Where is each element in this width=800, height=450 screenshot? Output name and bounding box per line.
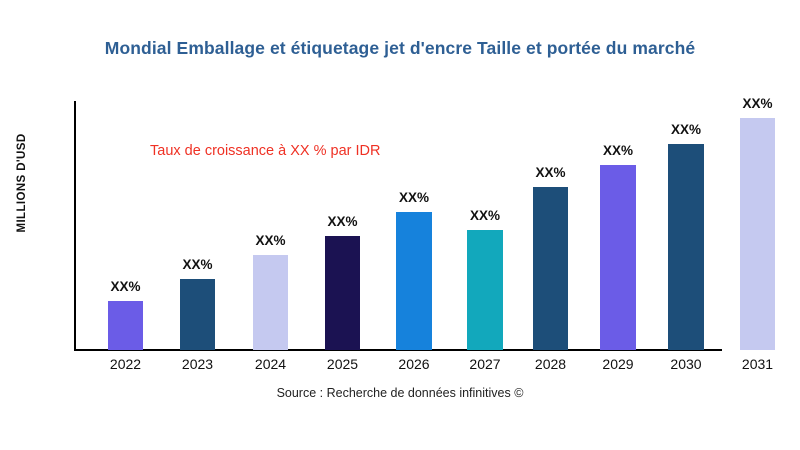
bar-value-label: XX% [110,279,140,294]
bar-group: XX% [740,0,775,350]
x-axis-tick-2025: 2025 [313,356,372,372]
x-axis-tick-2031: 2031 [728,356,787,372]
bar-value-label: XX% [182,257,212,272]
bar-value-label: XX% [327,214,357,229]
x-axis-tick-2023: 2023 [168,356,227,372]
x-axis-tick-2027: 2027 [455,356,515,372]
x-axis-tick-2028: 2028 [521,356,580,372]
x-axis-tick-2022: 2022 [96,356,155,372]
bar-value-label: XX% [671,122,701,137]
bar[interactable] [600,165,636,350]
bar[interactable] [108,301,143,350]
bar-group: XX% [396,0,432,350]
bar[interactable] [180,279,215,350]
x-axis-tick-2026: 2026 [384,356,444,372]
bar-value-label: XX% [603,143,633,158]
bar[interactable] [253,255,288,350]
bar[interactable] [467,230,503,350]
bar-group: XX% [253,0,288,350]
bar[interactable] [740,118,775,350]
bar[interactable] [396,212,432,350]
bar-value-label: XX% [742,96,772,111]
bar[interactable] [668,144,704,350]
bar[interactable] [325,236,360,350]
bar-value-label: XX% [470,208,500,223]
bar-group: XX% [325,0,360,350]
bar-value-label: XX% [399,190,429,205]
bar-group: XX% [180,0,215,350]
x-axis-tick-2029: 2029 [588,356,648,372]
bar[interactable] [533,187,568,350]
bar-group: XX% [467,0,503,350]
bar-group: XX% [668,0,704,350]
bar-group: XX% [108,0,143,350]
plot-area: XX%2022XX%2023XX%2024XX%2025XX%2026XX%20… [0,0,800,450]
bar-group: XX% [533,0,568,350]
x-axis-tick-2024: 2024 [241,356,300,372]
source-caption: Source : Recherche de données infinitive… [0,386,800,400]
chart-container: Mondial Emballage et étiquetage jet d'en… [0,0,800,450]
bar-value-label: XX% [535,165,565,180]
x-axis-tick-2030: 2030 [656,356,716,372]
bar-value-label: XX% [255,233,285,248]
bar-group: XX% [600,0,636,350]
